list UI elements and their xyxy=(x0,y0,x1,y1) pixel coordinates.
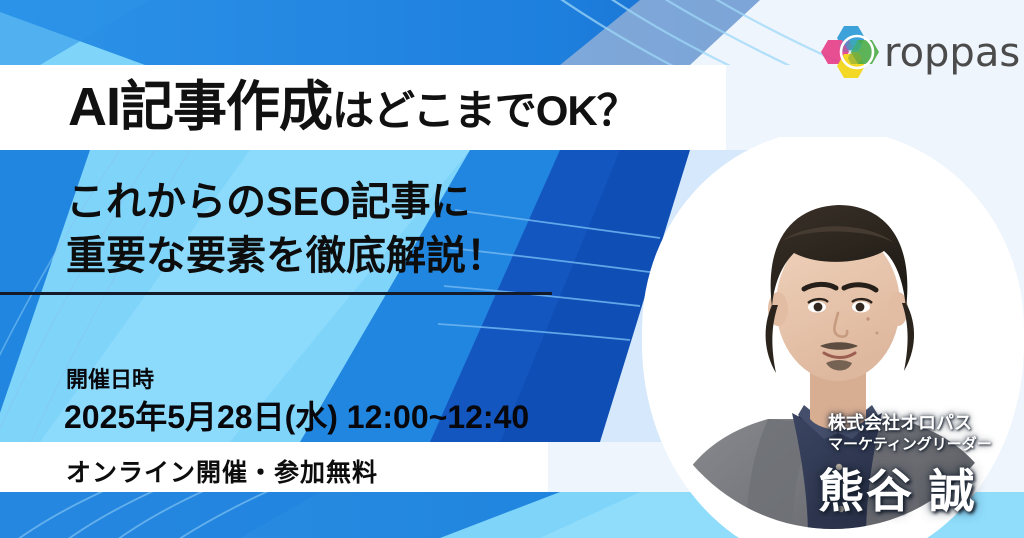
section-divider xyxy=(0,292,552,295)
webinar-banner: AI記事作成はどこまでOK？ これからのSEO記事に 重要な要素を徹底解説！ 開… xyxy=(0,0,1024,538)
page-title: AI記事作成はどこまでOK？ xyxy=(68,72,638,146)
event-format-note: オンライン開催・参加無料 xyxy=(66,453,378,489)
oroppas-wordmark: roppas xyxy=(884,30,1020,76)
subtitle: これからのSEO記事に 重要な要素を徹底解説！ xyxy=(66,175,506,283)
page-title-suffix: はどこまでOK？ xyxy=(332,87,638,134)
oroppas-logo[interactable]: roppas xyxy=(820,24,1010,82)
event-date-value: 2025年5月28日(水) 12:00~12:40 xyxy=(64,392,529,438)
subtitle-line-2: 重要な要素を徹底解説！ xyxy=(66,229,506,283)
speaker-company: 株式会社オロパス xyxy=(828,409,972,435)
speaker-name: 熊谷 誠 xyxy=(818,455,977,521)
subtitle-line-1: これからのSEO記事に xyxy=(66,175,506,229)
event-date-label: 開催日時 xyxy=(66,362,154,394)
oroppas-hexagon-mark-icon xyxy=(820,24,886,82)
speaker-role: マーケティングリーダー xyxy=(828,433,992,454)
page-title-main: AI記事作成 xyxy=(68,77,332,137)
